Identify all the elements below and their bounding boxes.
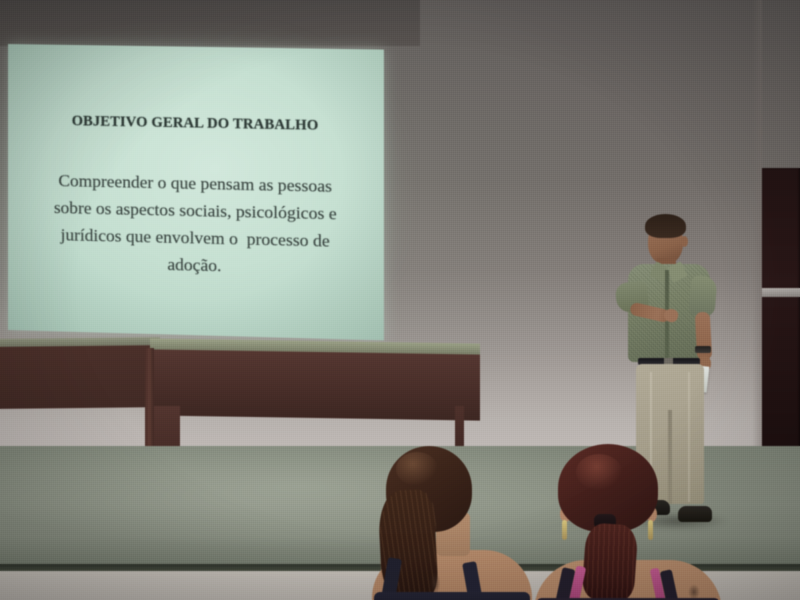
audience-left-tattoo <box>430 572 440 594</box>
audience-left-hair-highlight <box>396 452 438 486</box>
doorway-icon <box>762 168 800 450</box>
presenter-forearm-right <box>695 312 712 361</box>
presentation-photo-scene: OBJETIVO GERAL DO TRABALHO Compreender o… <box>0 0 800 600</box>
audience-right-ponytail-strands <box>581 522 638 600</box>
audience-member-right <box>528 444 728 600</box>
projection-screen: OBJETIVO GERAL DO TRABALHO Compreender o… <box>8 44 384 340</box>
audience-right-hair-highlight <box>576 454 622 490</box>
table-near-apron <box>150 349 480 420</box>
earring-icon <box>648 520 653 540</box>
slide-title: OBJETIVO GERAL DO TRABALHO <box>8 112 384 136</box>
presenter-ear <box>681 236 688 247</box>
audience-member-left <box>344 446 524 600</box>
earring-icon <box>562 520 567 540</box>
door-jamb <box>752 0 762 470</box>
audience-left-top <box>374 592 530 600</box>
wristwatch-icon <box>695 346 711 353</box>
slide-body: Compreender o que pensam as pessoas sobr… <box>22 166 369 283</box>
slide-content: OBJETIVO GERAL DO TRABALHO Compreender o… <box>8 44 384 340</box>
presenter-upper-arm-right <box>688 275 717 317</box>
doorway-divider <box>762 288 800 297</box>
presenter-hair <box>645 214 686 238</box>
table-far-apron <box>0 345 160 409</box>
